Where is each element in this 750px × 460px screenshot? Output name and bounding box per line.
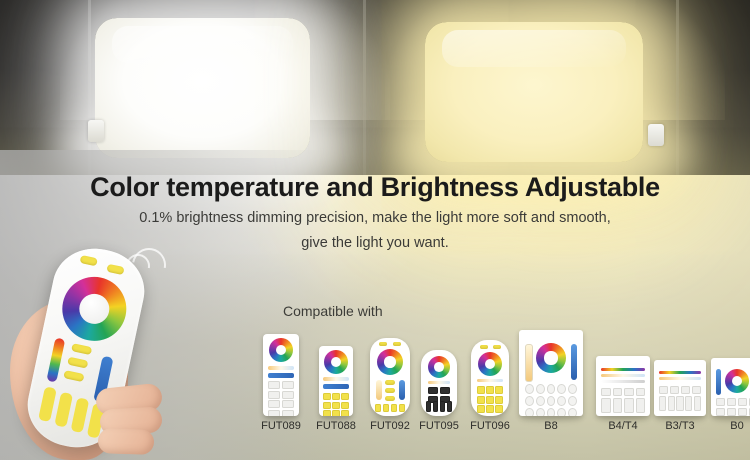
device-fut095[interactable]: FUT095 <box>421 350 457 416</box>
device-label-b0: B0 <box>709 420 750 432</box>
b0-brand-text <box>714 360 750 363</box>
page-title: Color temperature and Brightness Adjusta… <box>0 172 750 203</box>
fut096-keypad[interactable] <box>477 386 503 413</box>
panel-sheen-warm <box>442 30 625 66</box>
remote-zone-button-3[interactable] <box>70 397 89 433</box>
b4t4-ct-bar[interactable] <box>601 374 645 377</box>
b0-keypad[interactable] <box>716 398 750 416</box>
fut088-brightness-bar[interactable] <box>323 384 349 389</box>
b4t4-zone-keys[interactable] <box>601 398 645 413</box>
remote-zone-button-2[interactable] <box>54 392 73 428</box>
fut092-color-wheel[interactable] <box>377 349 403 375</box>
device-label-fut088: FUT088 <box>307 420 365 432</box>
remote-zone-button-1[interactable] <box>38 386 57 422</box>
remote-mode-button-3[interactable] <box>63 370 84 382</box>
b3t3-rgb-bar[interactable] <box>659 371 701 374</box>
cool-white-panel <box>95 18 310 158</box>
device-b8[interactable]: B8 <box>519 330 583 416</box>
hand-with-remote <box>8 248 193 460</box>
subtitle-line-1: 0.1% brightness dimming precision, make … <box>0 210 750 226</box>
fut096-color-wheel[interactable] <box>478 352 502 376</box>
compatible-with-label: Compatible with <box>283 303 383 319</box>
b8-brightness-slider[interactable] <box>571 344 577 380</box>
device-label-b3t3: B3/T3 <box>652 420 708 432</box>
warm-white-panel <box>425 22 643 162</box>
fut089-keypad[interactable] <box>268 381 294 416</box>
device-fut096[interactable]: FUT096 <box>471 340 509 416</box>
wall-edge-middle <box>363 0 366 175</box>
remote-top-button-1[interactable] <box>80 255 98 266</box>
fut092-ct-slider[interactable] <box>376 380 382 400</box>
device-fut092[interactable]: FUT092 <box>370 338 410 416</box>
fut088-keypad[interactable] <box>323 393 349 416</box>
remote-top-button-2[interactable] <box>106 264 124 275</box>
b3t3-ct-bar[interactable] <box>659 377 701 380</box>
b4t4-brightness-bar[interactable] <box>601 380 645 383</box>
b4t4-top-keys[interactable] <box>601 388 645 396</box>
fut095-zone-keys[interactable] <box>426 401 452 412</box>
b8-color-wheel[interactable] <box>536 343 566 373</box>
remote-rainbow-slider[interactable] <box>46 337 65 382</box>
fut089-ct-bar[interactable] <box>268 366 294 370</box>
b3t3-brand-text <box>657 362 703 365</box>
panel-sheen-cool <box>112 26 293 62</box>
fut092-zone-keys[interactable] <box>375 404 405 412</box>
device-fut089[interactable]: FUT089 <box>263 334 299 416</box>
device-b3t3[interactable]: B3/T3 <box>654 360 706 416</box>
fut088-color-wheel[interactable] <box>324 350 348 374</box>
b3t3-zone-keys[interactable] <box>659 396 701 411</box>
panel-clip-left <box>88 120 104 142</box>
device-label-b8: B8 <box>522 420 580 432</box>
device-fut088[interactable]: FUT088 <box>319 346 353 416</box>
remote-color-wheel[interactable] <box>56 271 132 347</box>
device-b4t4[interactable]: B4/T4 <box>596 356 650 416</box>
device-b0[interactable]: B0 <box>711 358 750 416</box>
remote-mode-button-1[interactable] <box>71 343 92 355</box>
b8-brand-text <box>522 332 580 335</box>
fut096-ct-bar[interactable] <box>477 379 503 382</box>
device-label-b4t4: B4/T4 <box>595 420 651 432</box>
b0-color-wheel[interactable] <box>725 369 749 393</box>
b3t3-top-keys[interactable] <box>659 386 701 394</box>
device-label-fut096: FUT096 <box>461 420 519 432</box>
b4t4-rgb-bar[interactable] <box>601 368 645 371</box>
b0-left-slider[interactable] <box>716 369 721 395</box>
device-label-fut089: FUT089 <box>252 420 310 432</box>
fut095-ct-bar[interactable] <box>428 381 450 384</box>
device-label-fut095: FUT095 <box>410 420 468 432</box>
promo-banner: Color temperature and Brightness Adjusta… <box>0 0 750 460</box>
compatible-device-list: FUT089 FUT088 <box>255 330 745 425</box>
hand-finger-3 <box>98 428 155 455</box>
remote-mode-button-2[interactable] <box>67 357 88 369</box>
fut092-brightness-slider[interactable] <box>399 380 405 400</box>
b8-ct-slider[interactable] <box>525 344 533 382</box>
b8-keypad[interactable] <box>525 384 577 416</box>
fut089-color-wheel[interactable] <box>269 338 293 362</box>
b4t4-brand-text <box>599 358 647 361</box>
fut088-ct-bar[interactable] <box>323 377 349 381</box>
fut095-color-wheel[interactable] <box>428 356 450 378</box>
panel-clip-right <box>648 124 664 146</box>
fut089-brightness-bar[interactable] <box>268 373 294 378</box>
